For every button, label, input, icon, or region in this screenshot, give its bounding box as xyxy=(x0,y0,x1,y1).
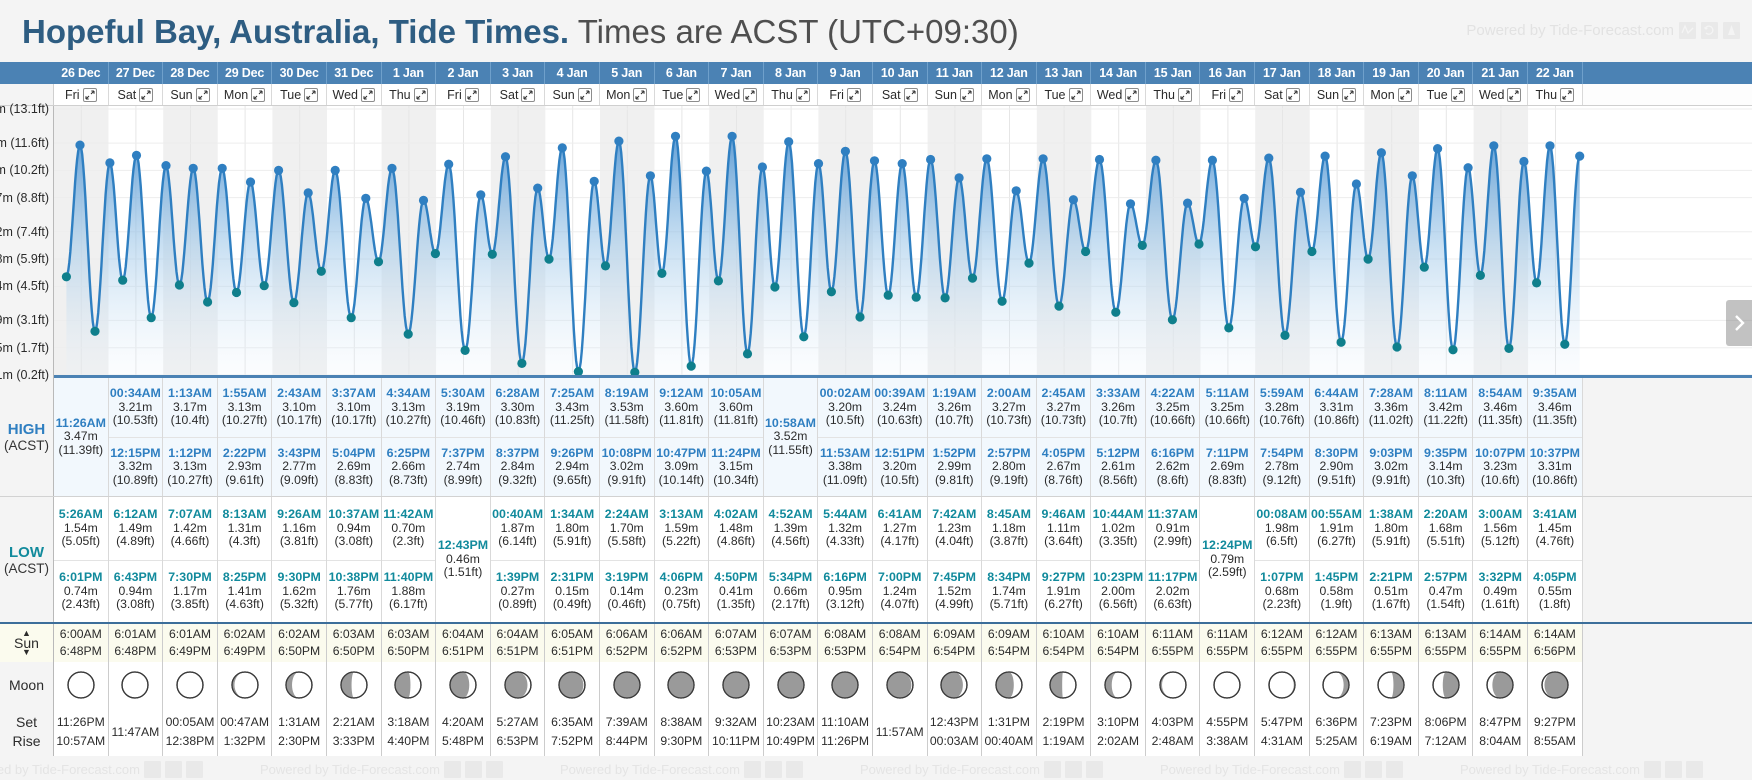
tide-event[interactable]: 12:15PM3.32m(10.89ft) xyxy=(109,437,163,496)
tide-event[interactable]: 1:45PM0.58m(1.9ft) xyxy=(1310,560,1364,623)
expand-icon[interactable] xyxy=(1125,88,1139,102)
tide-event[interactable]: 8:45AM1.18m(3.87ft) xyxy=(982,497,1036,560)
low-tide-point[interactable] xyxy=(260,281,269,290)
low-tide-point[interactable] xyxy=(1280,331,1289,340)
date-cell[interactable]: 17 Jan xyxy=(1255,62,1310,84)
tide-event[interactable]: 10:05AM3.60m(11.81ft) xyxy=(709,378,763,437)
high-tide-point[interactable] xyxy=(476,190,485,199)
tide-event[interactable]: 1:55AM3.13m(10.27ft) xyxy=(218,378,272,437)
low-tide-cell[interactable]: 6:12AM1.49m(4.89ft)6:43PM0.94m(3.08ft) xyxy=(109,497,164,622)
low-tide-cell[interactable]: 00:40AM1.87m(6.14ft)1:39PM0.27m(0.89ft) xyxy=(491,497,546,622)
tide-event[interactable]: 1:34AM1.80m(5.91ft) xyxy=(545,497,599,560)
date-cell[interactable]: 9 Jan xyxy=(818,62,873,84)
date-cell[interactable]: 21 Jan xyxy=(1473,62,1528,84)
tide-event[interactable]: 3:41AM1.45m(4.76ft) xyxy=(1528,497,1582,560)
low-tide-cell[interactable]: 10:37AM0.94m(3.08ft)10:38PM1.76m(5.77ft) xyxy=(327,497,382,622)
expand-icon[interactable] xyxy=(1178,88,1192,102)
high-tide-point[interactable] xyxy=(1095,155,1104,164)
tide-event[interactable]: 6:41AM1.27m(4.17ft) xyxy=(873,497,927,560)
high-tide-cell[interactable]: 00:34AM3.21m(10.53ft)12:15PM3.32m(10.89f… xyxy=(109,378,164,496)
tide-event[interactable]: 11:37AM0.91m(2.99ft) xyxy=(1146,497,1200,560)
low-tide-cell[interactable]: 8:45AM1.18m(3.87ft)8:34PM1.74m(5.71ft) xyxy=(982,497,1037,622)
expand-icon[interactable] xyxy=(960,88,974,102)
high-tide-cell[interactable]: 9:35AM3.46m(11.35ft)10:37PM3.31m(10.86ft… xyxy=(1528,378,1583,496)
tide-event[interactable]: 2:43AM3.10m(10.17ft) xyxy=(272,378,326,437)
tide-event[interactable]: 2:24AM1.70m(5.58ft) xyxy=(600,497,654,560)
expand-icon[interactable] xyxy=(139,88,153,102)
high-tide-point[interactable] xyxy=(784,137,793,146)
date-cell[interactable]: 6 Jan xyxy=(655,62,710,84)
high-tide-point[interactable] xyxy=(1321,152,1330,161)
high-tide-cell[interactable]: 4:34AM3.13m(10.27ft)6:25PM2.66m(8.73ft) xyxy=(382,378,437,496)
high-tide-point[interactable] xyxy=(1012,186,1021,195)
weekday-cell[interactable]: Sun xyxy=(1310,84,1365,105)
low-tide-point[interactable] xyxy=(1392,342,1401,351)
date-cell[interactable]: 1 Jan xyxy=(382,62,437,84)
low-tide-point[interactable] xyxy=(461,346,470,355)
weekday-cell[interactable]: Thu xyxy=(1528,84,1583,105)
low-tide-cell[interactable]: 3:41AM1.45m(4.76ft)4:05PM0.55m(1.8ft) xyxy=(1528,497,1583,622)
low-tide-cell[interactable]: 1:38AM1.80m(5.91ft)2:21PM0.51m(1.67ft) xyxy=(1364,497,1419,622)
low-tide-point[interactable] xyxy=(431,249,440,258)
tide-event[interactable]: 6:01PM0.74m(2.43ft) xyxy=(54,560,108,623)
low-tide-cell[interactable]: 7:42AM1.23m(4.04ft)7:45PM1.52m(4.99ft) xyxy=(928,497,983,622)
expand-icon[interactable] xyxy=(521,88,535,102)
weekday-cell[interactable]: Mon xyxy=(600,84,655,105)
low-tide-point[interactable] xyxy=(488,250,497,259)
date-cell[interactable]: 27 Dec xyxy=(109,62,164,84)
high-tide-point[interactable] xyxy=(841,147,850,156)
high-tide-cell[interactable]: 8:19AM3.53m(11.58ft)10:08PM3.02m(9.91ft) xyxy=(600,378,655,496)
low-tide-point[interactable] xyxy=(1251,242,1260,251)
tide-event[interactable]: 10:47PM3.09m(10.14ft) xyxy=(655,437,709,496)
tide-event[interactable]: 5:12PM2.61m(8.56ft) xyxy=(1091,437,1145,496)
tide-event[interactable]: 6:43PM0.94m(3.08ft) xyxy=(109,560,163,623)
weekday-cell[interactable]: Tue xyxy=(272,84,327,105)
tide-event[interactable]: 1:38AM1.80m(5.91ft) xyxy=(1364,497,1418,560)
tide-event[interactable]: 12:43PM0.46m(1.51ft) xyxy=(436,497,490,622)
tide-event[interactable]: 11:17PM2.02m(6.63ft) xyxy=(1146,560,1200,623)
tide-event[interactable]: 10:07PM3.23m(10.6ft) xyxy=(1473,437,1527,496)
tide-event[interactable]: 00:55AM1.91m(6.27ft) xyxy=(1310,497,1364,560)
high-tide-cell[interactable]: 6:44AM3.31m(10.86ft)8:30PM2.90m(9.51ft) xyxy=(1310,378,1365,496)
tide-event[interactable]: 3:37AM3.10m(10.17ft) xyxy=(327,378,381,437)
tide-event[interactable]: 4:34AM3.13m(10.27ft) xyxy=(382,378,436,437)
tide-event[interactable]: 7:54PM2.78m(9.12ft) xyxy=(1255,437,1309,496)
tide-event[interactable]: 00:40AM1.87m(6.14ft) xyxy=(491,497,545,560)
low-tide-cell[interactable]: 3:13AM1.59m(5.22ft)4:06PM0.23m(0.75ft) xyxy=(655,497,710,622)
low-tide-point[interactable] xyxy=(601,261,610,270)
date-cell[interactable]: 10 Jan xyxy=(873,62,928,84)
high-tide-cell[interactable]: 00:02AM3.20m(10.5ft)11:53AM3.38m(11.09ft… xyxy=(818,378,873,496)
high-tide-cell[interactable]: 3:33AM3.26m(10.7ft)5:12PM2.61m(8.56ft) xyxy=(1091,378,1146,496)
weekday-cell[interactable]: Thu xyxy=(382,84,437,105)
low-tide-cell[interactable]: 9:26AM1.16m(3.81ft)9:30PM1.62m(5.32ft) xyxy=(272,497,327,622)
high-tide-point[interactable] xyxy=(758,162,767,171)
expand-icon[interactable] xyxy=(633,88,647,102)
weekday-cell[interactable]: Sat xyxy=(109,84,164,105)
high-tide-point[interactable] xyxy=(75,141,84,150)
tide-event[interactable]: 5:11AM3.25m(10.66ft) xyxy=(1200,378,1254,437)
tide-event[interactable]: 4:52AM1.39m(4.56ft) xyxy=(764,497,818,560)
high-tide-point[interactable] xyxy=(331,166,340,175)
tide-event[interactable]: 2:31PM0.15m(0.49ft) xyxy=(545,560,599,623)
low-tide-cell[interactable]: 12:24PM0.79m(2.59ft) xyxy=(1200,497,1255,622)
high-tide-point[interactable] xyxy=(274,166,283,175)
expand-icon[interactable] xyxy=(196,88,210,102)
tide-event[interactable]: 9:27PM1.91m(6.27ft) xyxy=(1037,560,1091,623)
tide-event[interactable]: 7:42AM1.23m(4.04ft) xyxy=(928,497,982,560)
high-tide-point[interactable] xyxy=(955,173,964,182)
tide-event[interactable]: 4:02AM1.48m(4.86ft) xyxy=(709,497,763,560)
tide-event[interactable]: 2:20AM1.68m(5.51ft) xyxy=(1419,497,1473,560)
weekday-cell[interactable]: Mon xyxy=(982,84,1037,105)
tide-event[interactable]: 10:08PM3.02m(9.91ft) xyxy=(600,437,654,496)
tide-event[interactable]: 8:19AM3.53m(11.58ft) xyxy=(600,378,654,437)
high-tide-point[interactable] xyxy=(646,171,655,180)
high-tide-point[interactable] xyxy=(501,152,510,161)
low-tide-cell[interactable]: 2:24AM1.70m(5.58ft)3:19PM0.14m(0.46ft) xyxy=(600,497,655,622)
low-tide-point[interactable] xyxy=(998,297,1007,306)
date-cell[interactable]: 13 Jan xyxy=(1037,62,1092,84)
tide-event[interactable]: 10:37AM0.94m(3.08ft) xyxy=(327,497,381,560)
low-tide-point[interactable] xyxy=(1364,255,1373,264)
date-cell[interactable]: 16 Jan xyxy=(1200,62,1255,84)
tide-event[interactable]: 5:59AM3.28m(10.76ft) xyxy=(1255,378,1309,437)
low-tide-cell[interactable]: 3:00AM1.56m(5.12ft)3:32PM0.49m(1.61ft) xyxy=(1473,497,1528,622)
low-tide-point[interactable] xyxy=(574,367,583,376)
high-tide-point[interactable] xyxy=(982,154,991,163)
low-tide-point[interactable] xyxy=(1024,259,1033,268)
low-tide-point[interactable] xyxy=(374,257,383,266)
high-tide-point[interactable] xyxy=(1039,154,1048,163)
date-cell[interactable]: 8 Jan xyxy=(764,62,819,84)
weekday-cell[interactable]: Sun xyxy=(545,84,600,105)
weekday-cell[interactable]: Sun xyxy=(928,84,983,105)
expand-icon[interactable] xyxy=(1398,88,1412,102)
weekday-cell[interactable]: Tue xyxy=(1037,84,1092,105)
tide-event[interactable]: 1:19AM3.26m(10.7ft) xyxy=(928,378,982,437)
high-tide-cell[interactable]: 3:37AM3.10m(10.17ft)5:04PM2.69m(8.83ft) xyxy=(327,378,382,496)
tide-event[interactable]: 6:12AM1.49m(4.89ft) xyxy=(109,497,163,560)
scroll-right-button[interactable] xyxy=(1726,300,1752,346)
tide-event[interactable]: 8:30PM2.90m(9.51ft) xyxy=(1310,437,1364,496)
low-tide-point[interactable] xyxy=(714,276,723,285)
tide-event[interactable]: 5:34PM0.66m(2.17ft) xyxy=(764,560,818,623)
high-tide-cell[interactable]: 1:19AM3.26m(10.7ft)1:52PM2.99m(9.81ft) xyxy=(928,378,983,496)
high-tide-point[interactable] xyxy=(558,143,567,152)
high-tide-point[interactable] xyxy=(1264,154,1273,163)
weekday-cell[interactable]: Sat xyxy=(873,84,928,105)
low-tide-point[interactable] xyxy=(799,332,808,341)
weekday-cell[interactable]: Fri xyxy=(1200,84,1255,105)
high-tide-point[interactable] xyxy=(870,156,879,165)
expand-icon[interactable] xyxy=(251,88,265,102)
expand-icon[interactable] xyxy=(414,88,428,102)
low-tide-point[interactable] xyxy=(770,282,779,291)
tide-event[interactable]: 4:05PM0.55m(1.8ft) xyxy=(1528,560,1582,623)
low-tide-point[interactable] xyxy=(147,313,156,322)
tide-event[interactable]: 10:37PM3.31m(10.86ft) xyxy=(1528,437,1582,496)
tide-event[interactable]: 4:50PM0.41m(1.35ft) xyxy=(709,560,763,623)
low-tide-point[interactable] xyxy=(687,362,696,371)
high-tide-point[interactable] xyxy=(814,159,823,168)
weekday-cell[interactable]: Tue xyxy=(655,84,710,105)
low-tide-point[interactable] xyxy=(941,293,950,302)
low-tide-point[interactable] xyxy=(1560,340,1569,349)
weekday-cell[interactable]: Sun xyxy=(163,84,218,105)
date-cell[interactable]: 30 Dec xyxy=(272,62,327,84)
weekday-cell[interactable]: Wed xyxy=(327,84,382,105)
tide-event[interactable]: 8:11AM3.42m(11.22ft) xyxy=(1419,378,1473,437)
low-tide-point[interactable] xyxy=(517,359,526,368)
high-tide-point[interactable] xyxy=(1296,188,1305,197)
high-tide-cell[interactable]: 8:54AM3.46m(11.35ft)10:07PM3.23m(10.6ft) xyxy=(1473,378,1528,496)
date-cell[interactable]: 3 Jan xyxy=(491,62,546,84)
high-tide-point[interactable] xyxy=(218,164,227,173)
date-cell[interactable]: 12 Jan xyxy=(982,62,1037,84)
weekday-cell[interactable]: Tue xyxy=(1419,84,1474,105)
low-tide-cell[interactable]: 7:07AM1.42m(4.66ft)7:30PM1.17m(3.85ft) xyxy=(163,497,218,622)
tide-event[interactable]: 5:04PM2.69m(8.83ft) xyxy=(327,437,381,496)
tide-event[interactable]: 7:45PM1.52m(4.99ft) xyxy=(928,560,982,623)
high-tide-point[interactable] xyxy=(361,194,370,203)
high-tide-point[interactable] xyxy=(1575,152,1584,161)
weekday-cell[interactable]: Thu xyxy=(1146,84,1201,105)
date-cell[interactable]: 11 Jan xyxy=(928,62,983,84)
high-tide-point[interactable] xyxy=(105,158,114,167)
tide-event[interactable]: 00:08AM1.98m(6.5ft) xyxy=(1255,497,1309,560)
tide-event[interactable]: 3:33AM3.26m(10.7ft) xyxy=(1091,378,1145,437)
tide-event[interactable]: 6:28AM3.30m(10.83ft) xyxy=(491,378,545,437)
expand-icon[interactable] xyxy=(686,88,700,102)
date-cell[interactable]: 7 Jan xyxy=(709,62,764,84)
high-tide-point[interactable] xyxy=(1433,144,1442,153)
high-tide-cell[interactable]: 7:25AM3.43m(11.25ft)9:26PM2.94m(9.65ft) xyxy=(545,378,600,496)
high-tide-point[interactable] xyxy=(898,159,907,168)
high-tide-point[interactable] xyxy=(1519,157,1528,166)
tide-event[interactable]: 7:25AM3.43m(11.25ft) xyxy=(545,378,599,437)
expand-icon[interactable] xyxy=(847,88,861,102)
tide-event[interactable]: 3:32PM0.49m(1.61ft) xyxy=(1473,560,1527,623)
low-tide-point[interactable] xyxy=(404,330,413,339)
low-tide-cell[interactable]: 8:13AM1.31m(4.3ft)8:25PM1.41m(4.63ft) xyxy=(218,497,273,622)
low-tide-point[interactable] xyxy=(1194,239,1203,248)
tide-event[interactable]: 6:16PM2.62m(8.6ft) xyxy=(1146,437,1200,496)
expand-icon[interactable] xyxy=(1507,88,1521,102)
high-tide-point[interactable] xyxy=(671,132,680,141)
tide-event[interactable]: 00:39AM3.24m(10.63ft) xyxy=(873,378,927,437)
weekday-cell[interactable]: Mon xyxy=(218,84,273,105)
expand-icon[interactable] xyxy=(304,88,318,102)
high-tide-cell[interactable]: 9:12AM3.60m(11.81ft)10:47PM3.09m(10.14ft… xyxy=(655,378,710,496)
expand-icon[interactable] xyxy=(1342,88,1356,102)
tide-event[interactable]: 1:52PM2.99m(9.81ft) xyxy=(928,437,982,496)
low-tide-point[interactable] xyxy=(62,272,71,281)
low-tide-point[interactable] xyxy=(1504,344,1513,353)
low-tide-point[interactable] xyxy=(912,293,921,302)
high-tide-cell[interactable]: 1:13AM3.17m(10.4ft)1:12PM3.13m(10.27ft) xyxy=(163,378,218,496)
tide-event[interactable]: 6:25PM2.66m(8.73ft) xyxy=(382,437,436,496)
date-cell[interactable]: 5 Jan xyxy=(600,62,655,84)
tide-event[interactable]: 5:44AM1.32m(4.33ft) xyxy=(818,497,872,560)
low-tide-point[interactable] xyxy=(657,269,666,278)
tide-event[interactable]: 00:34AM3.21m(10.53ft) xyxy=(109,378,163,437)
high-tide-point[interactable] xyxy=(419,196,428,205)
low-tide-point[interactable] xyxy=(1111,308,1120,317)
high-tide-point[interactable] xyxy=(533,184,542,193)
high-tide-point[interactable] xyxy=(728,132,737,141)
weekday-cell[interactable]: Wed xyxy=(1091,84,1146,105)
low-tide-cell[interactable]: 10:44AM1.02m(3.35ft)10:23PM2.00m(6.56ft) xyxy=(1091,497,1146,622)
low-tide-point[interactable] xyxy=(1307,247,1316,256)
expand-icon[interactable] xyxy=(1069,88,1083,102)
tide-event[interactable]: 5:30AM3.19m(10.46ft) xyxy=(436,378,490,437)
low-tide-cell[interactable]: 4:02AM1.48m(4.86ft)4:50PM0.41m(1.35ft) xyxy=(709,497,764,622)
tide-event[interactable]: 3:43PM2.77m(9.09ft) xyxy=(272,437,326,496)
low-tide-point[interactable] xyxy=(1532,278,1541,287)
tide-event[interactable]: 11:26AM3.47m(11.39ft) xyxy=(54,378,108,496)
high-tide-point[interactable] xyxy=(1151,156,1160,165)
high-tide-point[interactable] xyxy=(614,137,623,146)
tide-event[interactable]: 8:54AM3.46m(11.35ft) xyxy=(1473,378,1527,437)
high-tide-point[interactable] xyxy=(1126,199,1135,208)
date-cell[interactable]: 15 Jan xyxy=(1146,62,1201,84)
tide-event[interactable]: 10:23PM2.00m(6.56ft) xyxy=(1091,560,1145,623)
tide-event[interactable]: 12:24PM0.79m(2.59ft) xyxy=(1200,497,1254,622)
high-tide-cell[interactable]: 7:28AM3.36m(11.02ft)9:03PM3.02m(9.91ft) xyxy=(1364,378,1419,496)
date-cell[interactable]: 14 Jan xyxy=(1091,62,1146,84)
low-tide-cell[interactable]: 11:42AM0.70m(2.3ft)11:40PM1.88m(6.17ft) xyxy=(382,497,437,622)
high-tide-point[interactable] xyxy=(246,177,255,186)
expand-icon[interactable] xyxy=(796,88,810,102)
low-tide-point[interactable] xyxy=(855,312,864,321)
tide-event[interactable]: 6:44AM3.31m(10.86ft) xyxy=(1310,378,1364,437)
weekday-cell[interactable]: Fri xyxy=(54,84,109,105)
date-cell[interactable]: 31 Dec xyxy=(327,62,382,84)
tide-event[interactable]: 3:00AM1.56m(5.12ft) xyxy=(1473,497,1527,560)
expand-icon[interactable] xyxy=(1451,88,1465,102)
high-tide-point[interactable] xyxy=(304,188,313,197)
tide-event[interactable]: 2:22PM2.93m(9.61ft) xyxy=(218,437,272,496)
tide-event[interactable]: 8:13AM1.31m(4.3ft) xyxy=(218,497,272,560)
high-tide-point[interactable] xyxy=(1069,195,1078,204)
low-tide-point[interactable] xyxy=(1224,323,1233,332)
date-cell[interactable]: 29 Dec xyxy=(218,62,273,84)
tide-event[interactable]: 4:06PM0.23m(0.75ft) xyxy=(655,560,709,623)
tide-event[interactable]: 3:13AM1.59m(5.22ft) xyxy=(655,497,709,560)
high-tide-point[interactable] xyxy=(1408,171,1417,180)
tide-event[interactable]: 11:53AM3.38m(11.09ft) xyxy=(818,437,872,496)
expand-icon[interactable] xyxy=(578,88,592,102)
tide-event[interactable]: 11:24PM3.15m(10.34ft) xyxy=(709,437,763,496)
expand-icon[interactable] xyxy=(904,88,918,102)
low-tide-point[interactable] xyxy=(968,274,977,283)
tide-event[interactable]: 7:37PM2.74m(8.99ft) xyxy=(436,437,490,496)
tide-event[interactable]: 7:11PM2.69m(8.83ft) xyxy=(1200,437,1254,496)
high-tide-cell[interactable]: 00:39AM3.24m(10.63ft)12:51PM3.20m(10.5ft… xyxy=(873,378,928,496)
weekday-cell[interactable]: Mon xyxy=(1364,84,1419,105)
high-tide-cell[interactable]: 1:55AM3.13m(10.27ft)2:22PM2.93m(9.61ft) xyxy=(218,378,273,496)
low-tide-point[interactable] xyxy=(203,297,212,306)
low-tide-cell[interactable]: 9:46AM1.11m(3.64ft)9:27PM1.91m(6.27ft) xyxy=(1037,497,1092,622)
weekday-cell[interactable]: Thu xyxy=(764,84,819,105)
tide-event[interactable]: 2:21PM0.51m(1.67ft) xyxy=(1364,560,1418,623)
tide-event[interactable]: 00:02AM3.20m(10.5ft) xyxy=(818,378,872,437)
low-tide-cell[interactable]: 5:26AM1.54m(5.05ft)6:01PM0.74m(2.43ft) xyxy=(54,497,109,622)
tide-event[interactable]: 1:07PM0.68m(2.23ft) xyxy=(1255,560,1309,623)
date-cell[interactable]: 18 Jan xyxy=(1310,62,1365,84)
tide-event[interactable]: 1:39PM0.27m(0.89ft) xyxy=(491,560,545,623)
tide-event[interactable]: 1:12PM3.13m(10.27ft) xyxy=(163,437,217,496)
tide-event[interactable]: 9:26PM2.94m(9.65ft) xyxy=(545,437,599,496)
date-cell[interactable]: 26 Dec xyxy=(54,62,109,84)
expand-icon[interactable] xyxy=(1016,88,1030,102)
tide-event[interactable]: 7:28AM3.36m(11.02ft) xyxy=(1364,378,1418,437)
high-tide-point[interactable] xyxy=(926,155,935,164)
high-tide-cell[interactable]: 10:58AM3.52m(11.55ft) xyxy=(764,378,819,496)
expand-icon[interactable] xyxy=(1229,88,1243,102)
weekday-cell[interactable]: Fri xyxy=(818,84,873,105)
tide-event[interactable]: 9:30PM1.62m(5.32ft) xyxy=(272,560,326,623)
tide-event[interactable]: 1:13AM3.17m(10.4ft) xyxy=(163,378,217,437)
tide-event[interactable]: 9:12AM3.60m(11.81ft) xyxy=(655,378,709,437)
tide-event[interactable]: 6:16PM0.95m(3.12ft) xyxy=(818,560,872,623)
tide-event[interactable]: 8:37PM2.84m(9.32ft) xyxy=(491,437,545,496)
weekday-cell[interactable]: Sat xyxy=(1255,84,1310,105)
high-tide-cell[interactable]: 2:45AM3.27m(10.73ft)4:05PM2.67m(8.76ft) xyxy=(1037,378,1092,496)
high-tide-cell[interactable]: 4:22AM3.25m(10.66ft)6:16PM2.62m(8.6ft) xyxy=(1146,378,1201,496)
high-tide-point[interactable] xyxy=(590,177,599,186)
tide-event[interactable]: 9:35AM3.46m(11.35ft) xyxy=(1528,378,1582,437)
high-tide-cell[interactable]: 2:43AM3.10m(10.17ft)3:43PM2.77m(9.09ft) xyxy=(272,378,327,496)
tide-event[interactable]: 7:30PM1.17m(3.85ft) xyxy=(163,560,217,623)
weekday-cell[interactable]: Wed xyxy=(709,84,764,105)
low-tide-point[interactable] xyxy=(544,255,553,264)
high-tide-point[interactable] xyxy=(387,164,396,173)
low-tide-point[interactable] xyxy=(232,288,241,297)
expand-icon[interactable] xyxy=(361,88,375,102)
high-tide-point[interactable] xyxy=(702,167,711,176)
low-tide-cell[interactable]: 2:20AM1.68m(5.51ft)2:57PM0.47m(1.54ft) xyxy=(1419,497,1474,622)
low-tide-point[interactable] xyxy=(1138,241,1147,250)
low-tide-point[interactable] xyxy=(175,280,184,289)
low-tide-point[interactable] xyxy=(1476,271,1485,280)
expand-icon[interactable] xyxy=(465,88,479,102)
tide-event[interactable]: 10:38PM1.76m(5.77ft) xyxy=(327,560,381,623)
tide-event[interactable]: 8:34PM1.74m(5.71ft) xyxy=(982,560,1036,623)
low-tide-point[interactable] xyxy=(289,298,298,307)
high-tide-point[interactable] xyxy=(132,151,141,160)
low-tide-cell[interactable]: 1:34AM1.80m(5.91ft)2:31PM0.15m(0.49ft) xyxy=(545,497,600,622)
weekday-cell[interactable]: Fri xyxy=(436,84,491,105)
low-tide-cell[interactable]: 00:08AM1.98m(6.5ft)1:07PM0.68m(2.23ft) xyxy=(1255,497,1310,622)
high-tide-cell[interactable]: 11:26AM3.47m(11.39ft) xyxy=(54,378,109,496)
tide-event[interactable]: 9:35PM3.14m(10.3ft) xyxy=(1419,437,1473,496)
date-cell[interactable]: 22 Jan xyxy=(1528,62,1583,84)
date-cell[interactable]: 20 Jan xyxy=(1419,62,1474,84)
low-tide-cell[interactable]: 12:43PM0.46m(1.51ft) xyxy=(436,497,491,622)
high-tide-cell[interactable]: 5:30AM3.19m(10.46ft)7:37PM2.74m(8.99ft) xyxy=(436,378,491,496)
high-tide-point[interactable] xyxy=(1489,141,1498,150)
date-cell[interactable]: 4 Jan xyxy=(545,62,600,84)
low-tide-point[interactable] xyxy=(827,287,836,296)
tide-event[interactable]: 11:42AM0.70m(2.3ft) xyxy=(382,497,436,560)
high-tide-point[interactable] xyxy=(1352,179,1361,188)
date-cell[interactable]: 28 Dec xyxy=(163,62,218,84)
tide-event[interactable]: 2:45AM3.27m(10.73ft) xyxy=(1037,378,1091,437)
low-tide-point[interactable] xyxy=(1448,345,1457,354)
